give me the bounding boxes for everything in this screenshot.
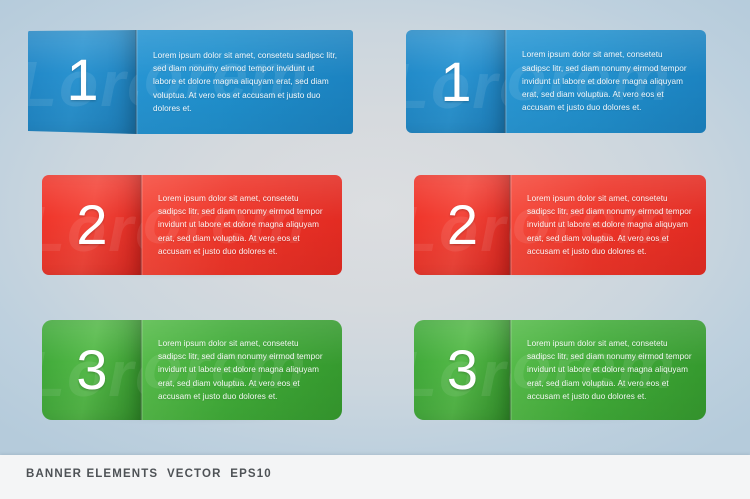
banner-number-panel: Lorem 2: [42, 175, 142, 275]
banner-text-panel: Lorem Lorem ipsum dolor sit amet, conset…: [142, 175, 342, 275]
banner-body-text: Lorem ipsum dolor sit amet, consetetu sa…: [511, 337, 706, 403]
banner-text-panel: Lorem Lorem ipsum dolor sit amet, conset…: [511, 320, 706, 420]
banner-number-panel: Lorem 1: [28, 30, 137, 134]
banner-number: 2: [447, 197, 478, 253]
banner-number-panel: Lorem 1: [406, 30, 506, 133]
banner-number: 3: [76, 342, 107, 398]
banner-number-panel: Lorem 3: [42, 320, 142, 420]
banner-number: 1: [440, 54, 471, 110]
banner-number-panel: Lorem 2: [414, 175, 511, 275]
banner-body-text: Lorem ipsum dolor sit amet, consetetu sa…: [142, 337, 342, 403]
banner-3-left[interactable]: Lorem 3 Lorem Lorem ipsum dolor sit amet…: [42, 320, 342, 420]
banner-number-panel: Lorem 3: [414, 320, 511, 420]
banner-number: 1: [66, 52, 98, 110]
banner-text-panel: Lorem Lorem ipsum dolor sit amet, conset…: [142, 320, 342, 420]
banner-2-left[interactable]: Lorem 2 Lorem Lorem ipsum dolor sit amet…: [42, 175, 342, 275]
footer-bar: BANNER ELEMENTS VECTOR EPS10: [0, 455, 750, 499]
banner-body-text: Lorem ipsum dolor sit amet, consetetu sa…: [506, 48, 706, 114]
banner-text-panel: Lorem Lorem ipsum dolor sit amet, conset…: [511, 175, 706, 275]
banner-1-left[interactable]: Lorem 1 Lorem Lorem ipsum dolor sit amet…: [28, 30, 353, 134]
banner-number: 2: [76, 197, 107, 253]
banner-number: 3: [447, 342, 478, 398]
banner-body-text: Lorem ipsum dolor sit amet, consetetu sa…: [137, 49, 353, 115]
banner-1-right[interactable]: Lorem 1 Lorem Lorem ipsum dolor sit amet…: [406, 30, 706, 133]
banner-2-right[interactable]: Lorem 2 Lorem Lorem ipsum dolor sit amet…: [414, 175, 706, 275]
poster-canvas: Lorem 1 Lorem Lorem ipsum dolor sit amet…: [0, 0, 750, 499]
banner-3-right[interactable]: Lorem 3 Lorem Lorem ipsum dolor sit amet…: [414, 320, 706, 420]
banner-body-text: Lorem ipsum dolor sit amet, consetetu sa…: [142, 192, 342, 258]
banner-body-text: Lorem ipsum dolor sit amet, consetetu sa…: [511, 192, 706, 258]
banner-text-panel: Lorem Lorem ipsum dolor sit amet, conset…: [506, 30, 706, 133]
footer-label: BANNER ELEMENTS VECTOR EPS10: [26, 468, 272, 480]
banner-text-panel: Lorem Lorem ipsum dolor sit amet, conset…: [137, 30, 353, 134]
